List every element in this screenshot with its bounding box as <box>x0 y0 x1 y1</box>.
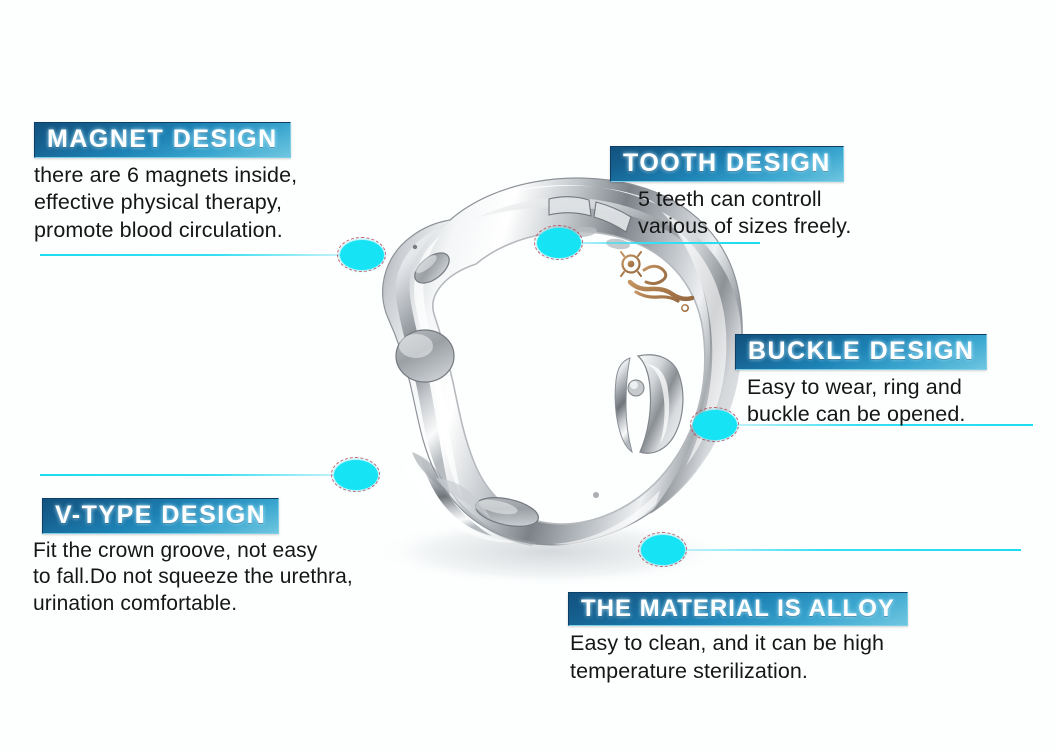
callout-tooth-design-body: 5 teeth can controll various of sizes fr… <box>638 186 852 241</box>
callout-dot-magnet[interactable] <box>340 240 384 270</box>
callout-magnet-design-title: MAGNET DESIGN <box>34 122 291 158</box>
callout-dot-buckle[interactable] <box>693 410 737 440</box>
callout-buckle-design-body: Easy to wear, ring and buckle can be ope… <box>747 374 987 429</box>
callout-vtype-design: V-TYPE DESIGN Fit the crown groove, not … <box>42 498 353 618</box>
callout-material-alloy: THE MATERIAL IS ALLOY Easy to clean, and… <box>568 592 908 685</box>
infographic-canvas: MAGNET DESIGN there are 6 magnets inside… <box>0 0 1056 753</box>
callout-vtype-design-body: Fit the crown groove, not easy to fall.D… <box>33 538 353 619</box>
callout-material-alloy-body: Easy to clean, and it can be high temper… <box>570 630 908 685</box>
callout-vtype-design-title: V-TYPE DESIGN <box>42 498 279 534</box>
callout-tooth-design-title: TOOTH DESIGN <box>610 146 844 182</box>
callout-dot-material[interactable] <box>641 535 685 565</box>
leader-line-material <box>661 549 1021 551</box>
callout-material-alloy-title: THE MATERIAL IS ALLOY <box>568 592 908 626</box>
callout-magnet-design: MAGNET DESIGN there are 6 magnets inside… <box>34 122 297 244</box>
callout-magnet-design-body: there are 6 magnets inside, effective ph… <box>34 162 297 245</box>
leader-line-vtype <box>40 474 358 476</box>
callout-dot-tooth[interactable] <box>537 228 581 258</box>
callout-buckle-design-title: BUCKLE DESIGN <box>735 334 987 370</box>
callout-buckle-design: BUCKLE DESIGN Easy to wear, ring and buc… <box>735 334 987 429</box>
leader-line-magnet <box>40 254 362 256</box>
callout-tooth-design: TOOTH DESIGN 5 teeth can controll variou… <box>610 146 852 241</box>
leader-line-tooth <box>558 242 760 244</box>
callout-dot-vtype[interactable] <box>334 460 378 490</box>
